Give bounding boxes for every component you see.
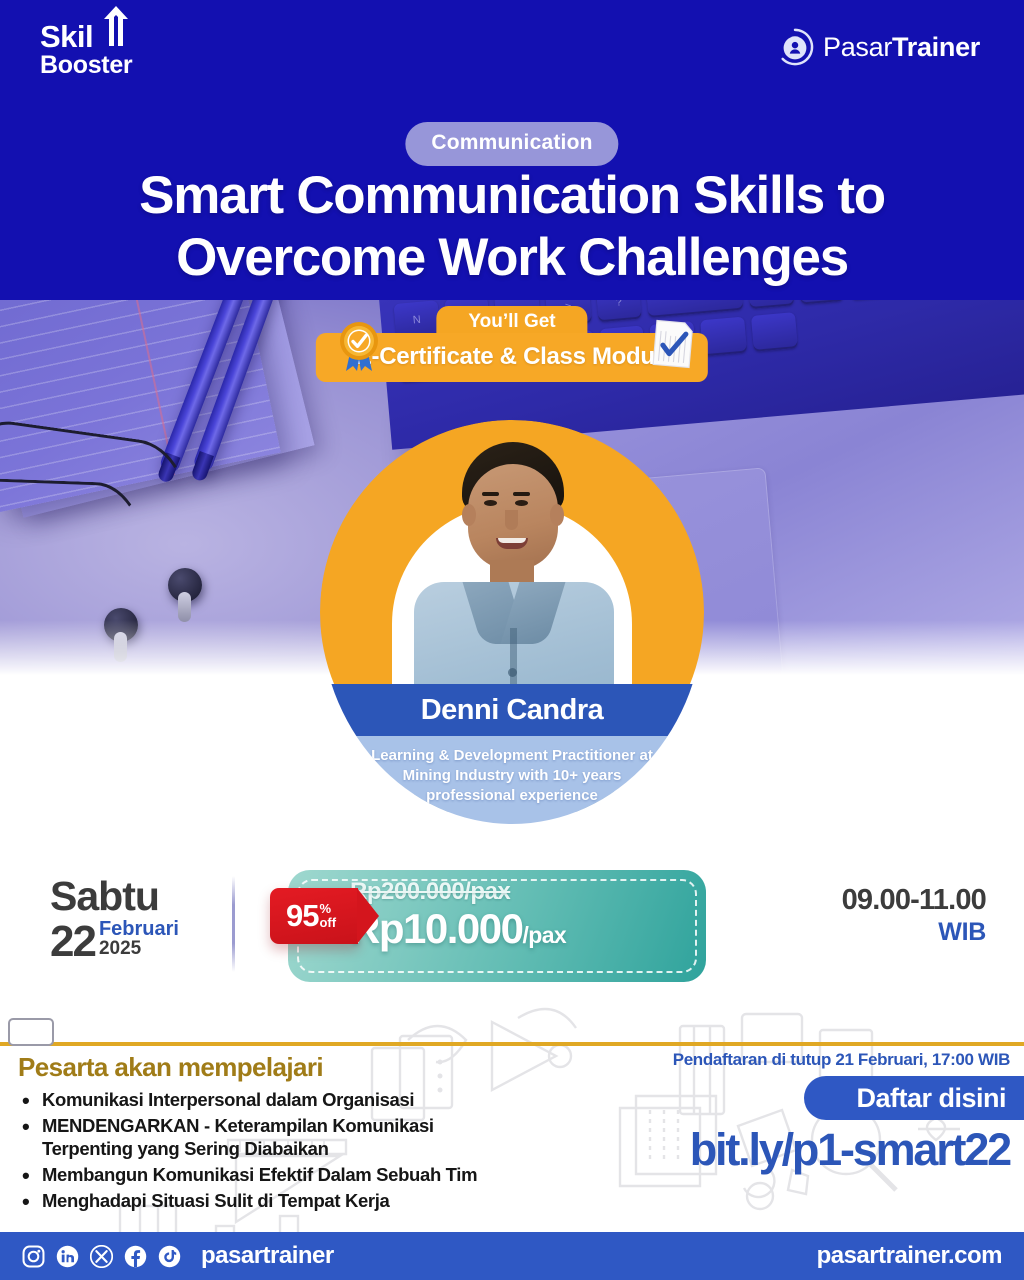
portrait-eye <box>515 500 528 506</box>
pasartrainer-trainer: Trainer <box>892 32 980 62</box>
portrait-eye <box>484 500 497 506</box>
portrait-eyebrow <box>513 492 530 496</box>
event-month-year: Februari 2025 <box>99 919 179 962</box>
discount-percent-symbol: % <box>319 902 336 916</box>
skill-booster-line2: Booster <box>40 54 132 78</box>
discount-suffix: % off <box>319 902 336 929</box>
list-item: Komunikasi Interpersonal dalam Organisas… <box>16 1088 516 1112</box>
category-badge: Communication <box>405 122 618 166</box>
keyboard-key <box>751 312 798 352</box>
class-module-document-icon <box>651 318 695 369</box>
register-cta-button[interactable]: Daftar disini <box>804 1076 1024 1120</box>
portrait-nose <box>505 510 518 530</box>
registration-deadline: Pendaftaran di tutup 21 Februari, 17:00 … <box>673 1050 1010 1070</box>
portrait-ear <box>550 504 564 526</box>
facebook-icon[interactable] <box>124 1245 147 1268</box>
event-year: 2025 <box>99 939 179 958</box>
speaker-bio: Learning & Development Practitioner at M… <box>320 736 704 824</box>
current-price-unit: /pax <box>522 922 566 948</box>
instagram-icon[interactable] <box>22 1245 45 1268</box>
event-day: Sabtu <box>50 876 179 917</box>
speaker-circle-clip: Learning & Development Practitioner at M… <box>320 420 704 824</box>
corner-rectangle-decoration <box>8 1018 54 1046</box>
vertical-divider <box>232 876 235 972</box>
x-twitter-icon[interactable] <box>90 1245 113 1268</box>
list-item: MENDENGARKAN - Keterampilan Komunikasi T… <box>16 1114 516 1161</box>
upward-arrow-icon <box>103 6 129 46</box>
earbud-image <box>168 568 202 602</box>
certificate-medal-icon <box>336 321 382 373</box>
shirt-button <box>508 668 517 677</box>
speaker-card: Learning & Development Practitioner at M… <box>320 420 704 824</box>
pasartrainer-wordmark: PasarTrainer <box>823 32 980 63</box>
learning-points-heading: Pesarta akan mempelajari <box>18 1052 323 1083</box>
promotional-flyer: G H J K L ; ' return B N M < > ? <box>0 0 1024 1280</box>
tiktok-icon[interactable] <box>158 1245 181 1268</box>
discount-off-label: off <box>319 916 336 930</box>
portrait-ear <box>462 504 476 526</box>
price-text-group: Rp200.000/pax Rp10.000/pax <box>350 878 692 951</box>
event-month: Februari <box>99 919 179 939</box>
pasartrainer-pasar: Pasar <box>823 32 892 62</box>
event-info-row: Sabtu 22 Februari 2025 Rp200.000/pax Rp1… <box>0 860 1024 1000</box>
page-title: Smart Communication Skills to Overcome W… <box>0 165 1024 289</box>
portrait-eyebrow <box>482 492 499 496</box>
linkedin-icon[interactable] <box>56 1245 79 1268</box>
list-item: Menghadapi Situasi Sulit di Tempat Kerja <box>16 1189 516 1213</box>
registration-link[interactable]: bit.ly/p1-smart22 <box>690 1124 1010 1176</box>
event-time-range: 09.00-11.00 <box>842 884 986 917</box>
event-date-number: 22 <box>50 922 95 962</box>
pasartrainer-circle-person-icon <box>776 28 814 66</box>
social-handle: pasartrainer <box>201 1242 334 1270</box>
event-date: Sabtu 22 Februari 2025 <box>50 876 179 962</box>
gold-divider-line <box>0 1042 1024 1046</box>
event-timezone: WIB <box>842 918 986 947</box>
social-links: pasartrainer <box>22 1242 334 1270</box>
list-item: Membangun Komunikasi Efektif Dalam Sebua… <box>16 1163 516 1187</box>
footer-bar: pasartrainer pasartrainer.com <box>0 1232 1024 1280</box>
current-price: Rp10.000/pax <box>350 906 692 951</box>
event-time: 09.00-11.00 WIB <box>842 884 986 947</box>
pasartrainer-logo: PasarTrainer <box>776 28 980 66</box>
discount-ribbon: 95 % off <box>270 888 358 944</box>
website-url: pasartrainer.com <box>817 1242 1002 1270</box>
speaker-name: Denni Candra <box>320 684 704 736</box>
discount-number: 95 <box>286 898 318 934</box>
learning-points-list: Komunikasi Interpersonal dalam Organisas… <box>16 1088 516 1214</box>
skill-booster-logo: Skil Booster <box>40 22 132 78</box>
original-price: Rp200.000/pax <box>350 878 692 906</box>
event-date-line2: 22 Februari 2025 <box>50 919 179 962</box>
